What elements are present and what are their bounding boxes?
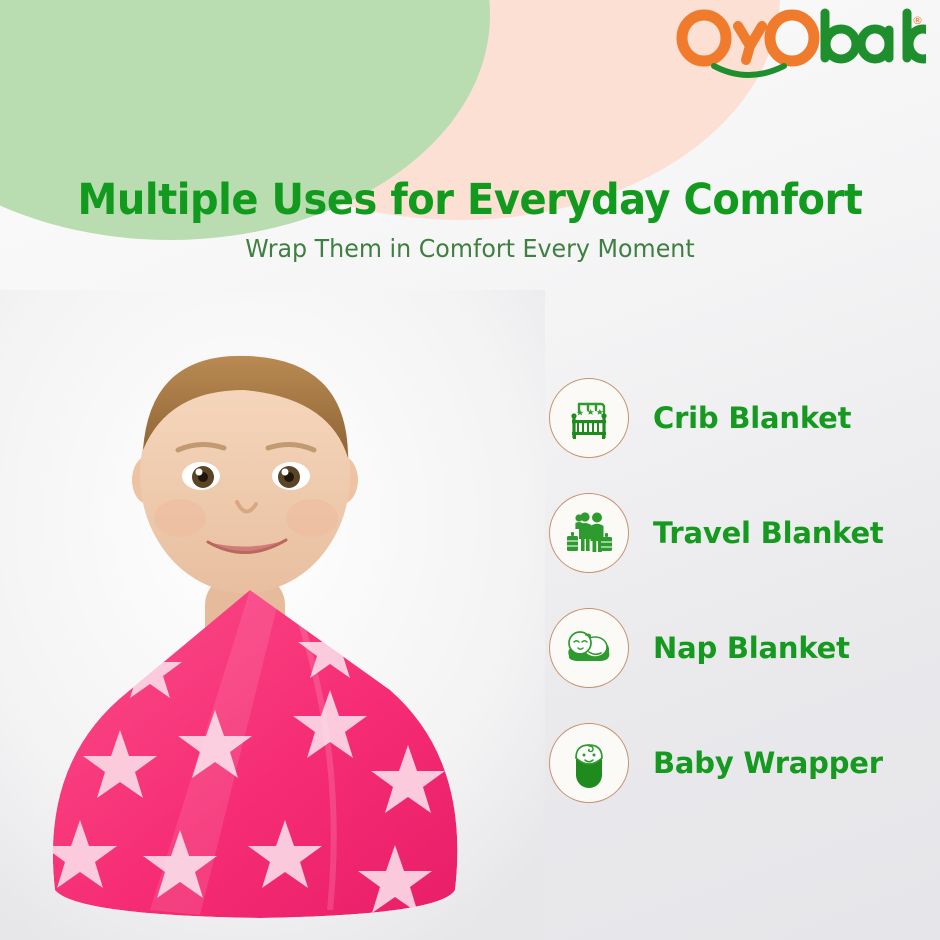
page-subtitle: Wrap Them in Comfort Every Moment: [24, 235, 917, 263]
page-title: Multiple Uses for Everyday Comfort: [33, 178, 907, 223]
feature-item-baby-wrapper[interactable]: Baby Wrapper: [545, 705, 940, 820]
feature-item-nap-blanket[interactable]: Nap Blanket: [545, 590, 940, 705]
promo-banner: ® Multiple Uses for Everyday Comfort Wra…: [0, 0, 940, 940]
header-block: Multiple Uses for Everyday Comfort Wrap …: [0, 178, 940, 263]
feature-label: Crib Blanket: [653, 401, 851, 435]
brand-logo: ®: [676, 8, 926, 80]
crib-icon: [549, 378, 629, 458]
sleeping-baby-icon: [549, 608, 629, 688]
feature-item-crib-blanket[interactable]: Crib Blanket: [545, 360, 940, 475]
feature-item-travel-blanket[interactable]: Travel Blanket: [545, 475, 940, 590]
family-travel-icon: [549, 493, 629, 573]
logo-baby-wordmark: [825, 13, 926, 59]
baby-photo: [0, 290, 545, 940]
swaddled-baby-icon: [549, 723, 629, 803]
trademark-symbol: ®: [912, 14, 923, 27]
logo-oyo-mark: [682, 15, 814, 75]
feature-label: Nap Blanket: [653, 631, 850, 665]
feature-label: Travel Blanket: [653, 516, 884, 550]
feature-label: Baby Wrapper: [653, 746, 883, 780]
feature-list: Crib Blanket: [545, 360, 940, 820]
